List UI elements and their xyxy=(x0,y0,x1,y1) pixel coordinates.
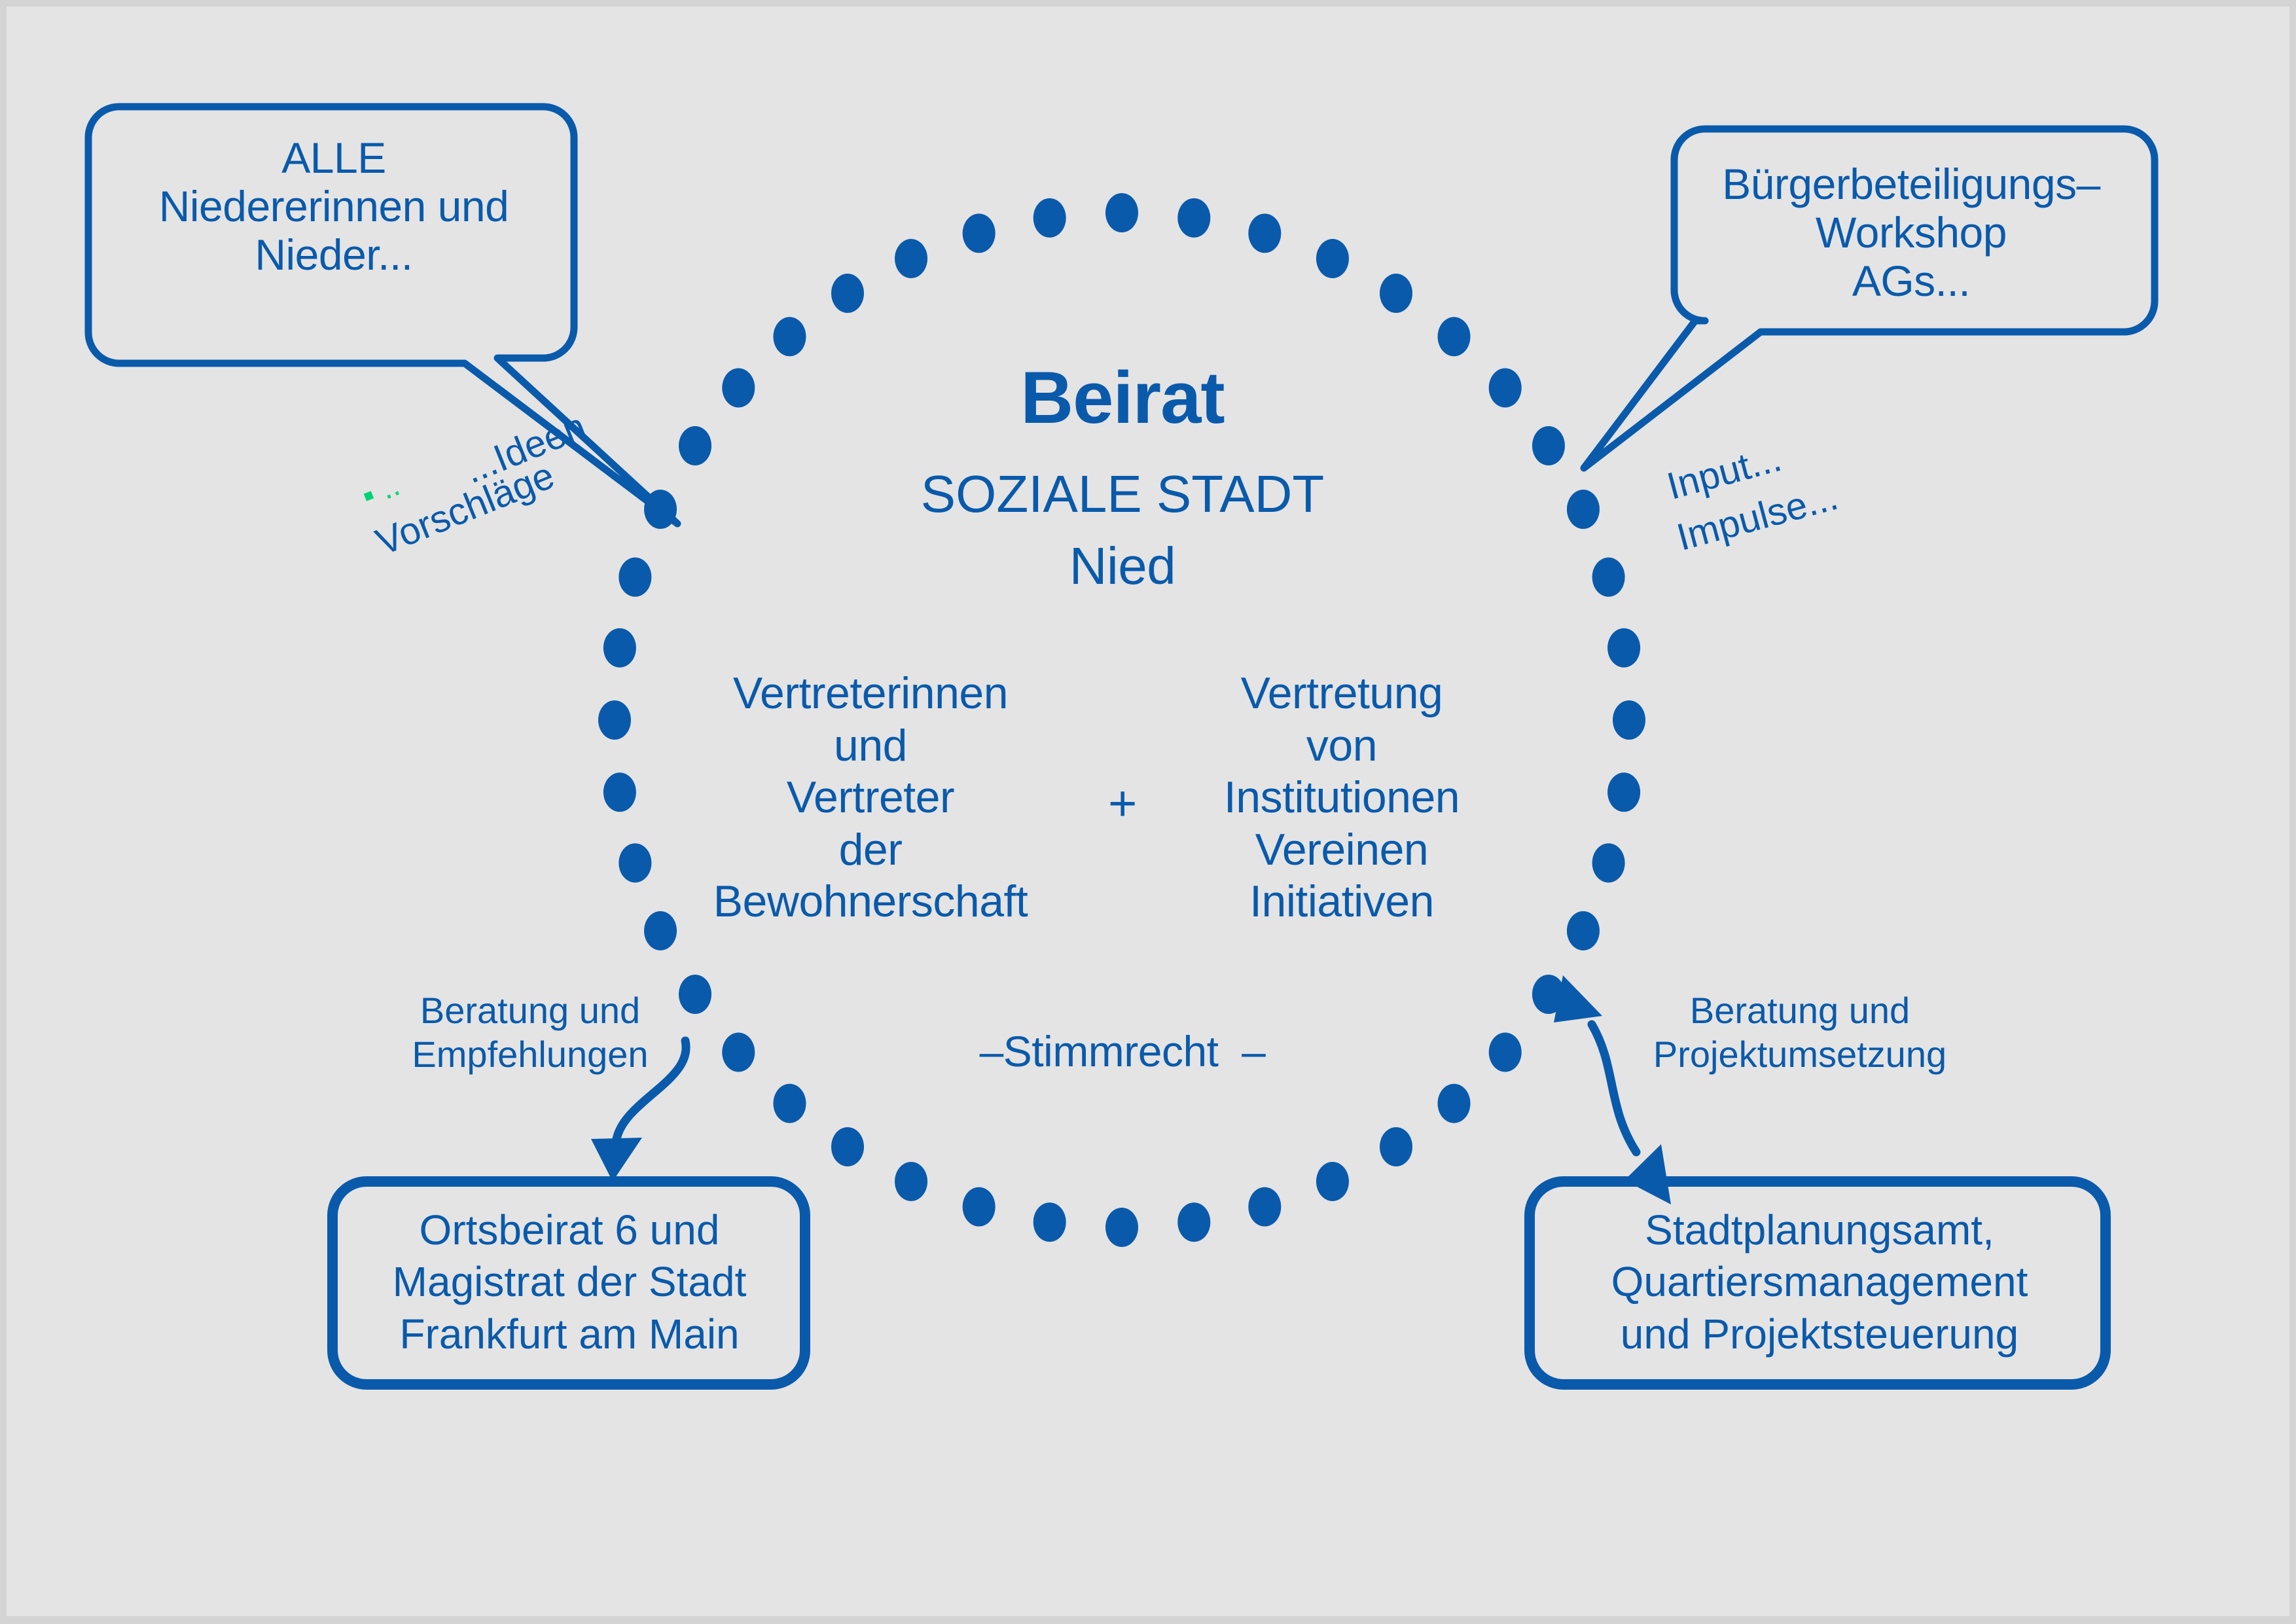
ring-dot xyxy=(831,1127,864,1166)
center-subtitle-line1: SOZIALE STADT xyxy=(805,465,1440,524)
ring-dot xyxy=(1567,911,1600,950)
ring-dot xyxy=(619,558,651,597)
ring-dot xyxy=(603,628,636,668)
center-column-right: Vertretung von Institutionen Vereinen In… xyxy=(1198,668,1486,928)
ring-dot xyxy=(831,274,864,313)
ring-dot xyxy=(963,213,996,253)
box-left-label: Ortsbeirat 6 und Magistrat der Stadt Fra… xyxy=(327,1204,812,1360)
ring-dot xyxy=(963,1187,996,1227)
ring-dot xyxy=(1489,1033,1522,1072)
ring-dot xyxy=(1177,198,1210,238)
ring-dot xyxy=(1438,317,1471,356)
ring-dot xyxy=(1613,700,1645,740)
ring-dot xyxy=(1248,1187,1281,1227)
plus-operator: + xyxy=(1077,776,1168,831)
ring-dot xyxy=(773,1084,806,1123)
ring-dot xyxy=(619,843,651,882)
bubble-right-label: Bürgerbeteiligungs– Workshop AGs... xyxy=(1682,160,2140,306)
diagram-canvas: ALLE Niedererinnen und Nieder... Bürgerb… xyxy=(0,0,2296,1624)
ring-dot xyxy=(1033,1202,1066,1242)
ring-dot xyxy=(1607,772,1640,812)
arrow-left-label: Beratung und Empfehlungen xyxy=(347,988,713,1076)
ring-dot xyxy=(598,700,631,740)
bubble-left-label: ALLE Niedererinnen und Nieder... xyxy=(98,134,569,280)
ring-dot xyxy=(1380,274,1412,313)
ring-dot xyxy=(679,426,711,465)
stimmrecht-label: –Stimmrecht – xyxy=(913,1028,1332,1076)
ring-dot xyxy=(1567,490,1600,529)
page-title: Beirat xyxy=(805,357,1440,439)
ring-dot xyxy=(603,772,636,812)
ring-dot xyxy=(644,911,677,950)
ring-dot xyxy=(1248,213,1281,253)
arrow-right-label: Beratung und Projektumsetzung xyxy=(1617,988,1983,1076)
ring-dot xyxy=(1438,1084,1471,1123)
ring-dot xyxy=(1592,558,1625,597)
ring-dot xyxy=(773,317,806,356)
ring-dot xyxy=(895,1162,927,1201)
ring-dot xyxy=(722,1033,755,1072)
box-right-label: Stadtplanungsamt, Quartiersmanagement un… xyxy=(1525,1204,2114,1360)
ring-dot xyxy=(1177,1202,1210,1242)
ring-dot xyxy=(1105,1208,1138,1247)
ring-dot xyxy=(1489,368,1522,407)
center-subtitle-line2: Nied xyxy=(805,537,1440,596)
ring-dot xyxy=(1316,1162,1349,1201)
ring-dot xyxy=(1607,628,1640,668)
ring-dot xyxy=(895,239,927,278)
ring-dot xyxy=(1380,1127,1412,1166)
ring-dot xyxy=(1316,239,1349,278)
center-column-left: Vertreterinnen und Vertreter der Bewohne… xyxy=(694,668,1047,928)
ring-dot xyxy=(1592,843,1625,882)
ring-dot xyxy=(1033,198,1066,238)
ring-dot xyxy=(1532,426,1565,465)
ring-dot xyxy=(1105,193,1138,232)
ring-dot xyxy=(722,368,755,407)
